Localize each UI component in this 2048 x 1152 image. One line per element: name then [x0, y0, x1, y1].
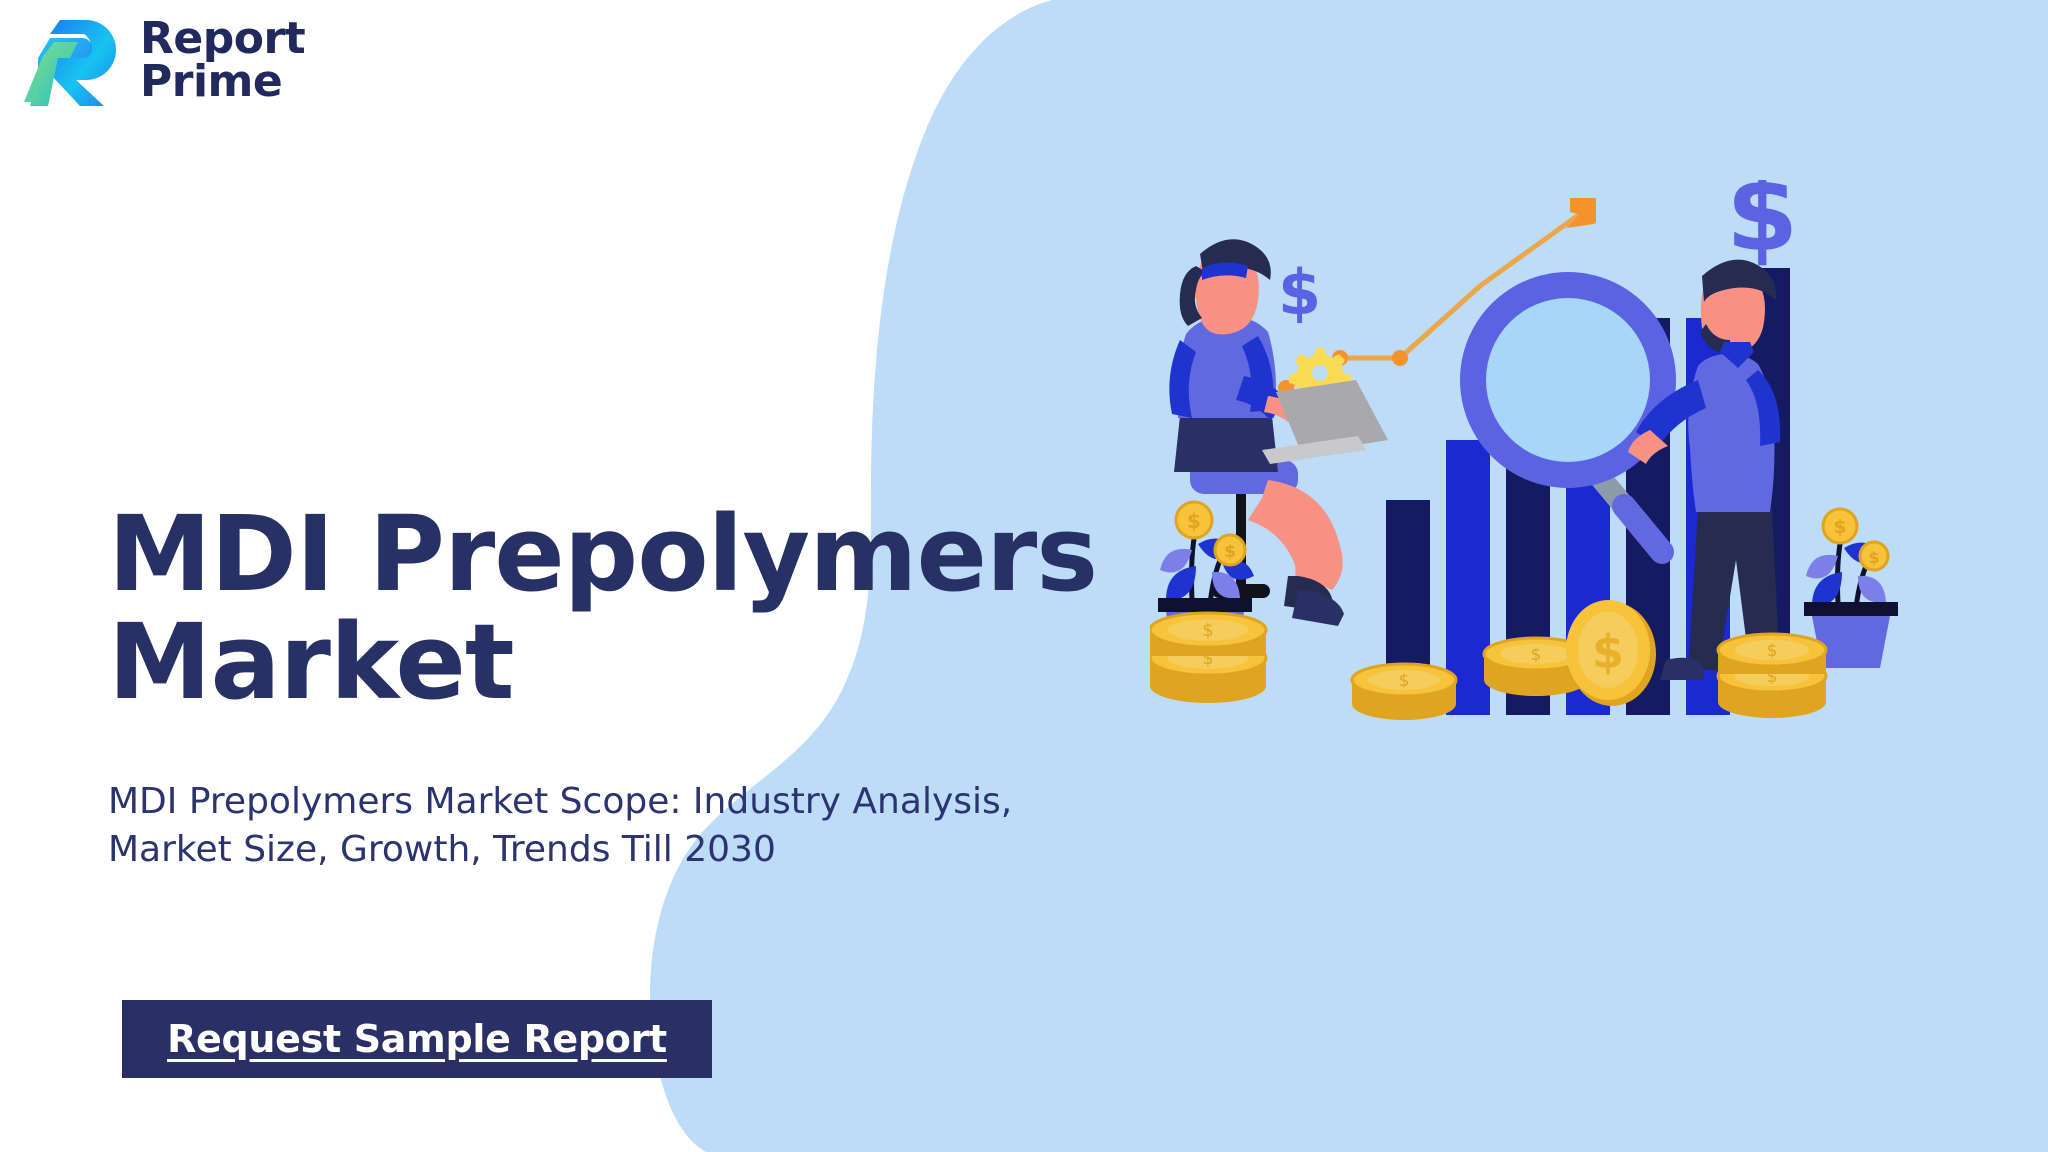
brand-name-line-2: Prime: [140, 60, 305, 103]
svg-text:$: $: [1224, 542, 1236, 562]
svg-text:$: $: [1868, 548, 1879, 567]
coin-stack-4: $ $: [1718, 634, 1826, 718]
skirt: [1174, 416, 1278, 472]
hero-text-block: MDI Prepolymers Market MDI Prepolymers M…: [108, 500, 1168, 874]
shoe-left: [1660, 658, 1704, 680]
trend-marker-3: [1392, 350, 1408, 366]
leaf: [1858, 576, 1886, 603]
svg-text:$: $: [1187, 509, 1201, 533]
coin-stack-2: $: [1352, 664, 1456, 720]
svg-text:$: $: [1278, 256, 1321, 329]
brand-wordmark: Report Prime: [140, 17, 305, 103]
request-sample-report-label: Request Sample Report: [167, 1017, 667, 1061]
brand-name-line-1: Report: [140, 17, 305, 60]
market-research-illustration: $ $: [1150, 180, 1930, 900]
svg-text:$: $: [1399, 671, 1410, 691]
coin-stack-1: $ $: [1150, 613, 1266, 703]
svg-text:$: $: [1202, 620, 1213, 641]
brand-logo[interactable]: Report Prime: [24, 14, 305, 106]
svg-text:$: $: [1592, 625, 1624, 679]
svg-text:$: $: [1531, 645, 1542, 665]
svg-text:$: $: [1767, 641, 1778, 661]
page-subtitle: MDI Prepolymers Market Scope: Industry A…: [108, 778, 1168, 874]
report-cover-page: Report Prime MDI Prepolymers Market MDI …: [0, 0, 2048, 1152]
shoe-2: [1292, 590, 1344, 626]
pot-rim: [1158, 598, 1252, 612]
request-sample-report-button[interactable]: Request Sample Report: [122, 1000, 712, 1078]
page-title: MDI Prepolymers Market: [108, 500, 1168, 716]
pot-rim: [1804, 602, 1898, 616]
report-prime-logo-mark-icon: [24, 14, 124, 106]
svg-text:$: $: [1833, 516, 1846, 538]
dollar-sign-small-icon: $: [1278, 256, 1321, 329]
